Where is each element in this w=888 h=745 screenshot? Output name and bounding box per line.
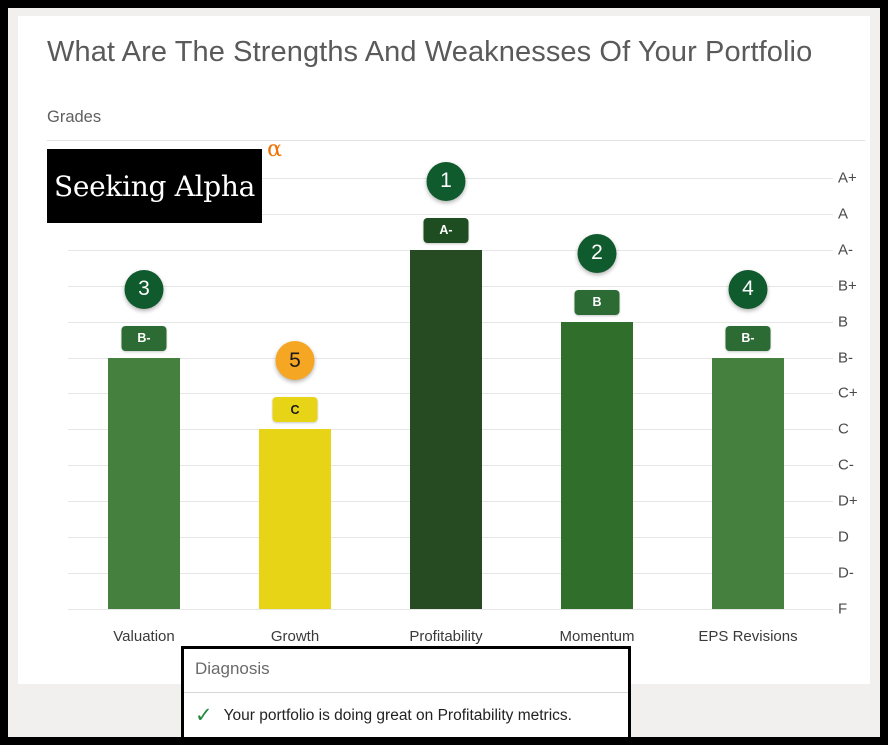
grade-badge-profitability: A-: [424, 218, 469, 243]
y-axis-tick-label: D: [838, 529, 849, 546]
bar-momentum[interactable]: [561, 322, 633, 609]
grade-badge-valuation: B-: [122, 326, 167, 351]
y-axis-tick-label: B: [838, 313, 848, 330]
seeking-alpha-logo: Seeking Alpha α: [47, 149, 262, 223]
diagnosis-title: Diagnosis: [195, 659, 270, 679]
rank-circle-2: 2: [578, 234, 617, 273]
bar-valuation[interactable]: [108, 358, 180, 609]
alpha-glyph-icon: α: [267, 137, 282, 162]
rank-circle-3: 3: [125, 270, 164, 309]
y-axis-tick-label: B+: [838, 277, 857, 294]
x-axis-label-growth: Growth: [271, 628, 319, 645]
diagnosis-message: Your portfolio is doing great on Profita…: [224, 707, 572, 725]
grade-badge-eps-revisions: B-: [726, 326, 771, 351]
y-axis-tick-label: D-: [838, 564, 854, 581]
grade-badge-momentum: B: [575, 290, 620, 315]
bar-growth[interactable]: [259, 429, 331, 609]
rank-circle-5: 5: [276, 341, 315, 380]
x-axis-label-momentum: Momentum: [559, 628, 634, 645]
diagnosis-message-row: ✓ Your portfolio is doing great on Profi…: [195, 705, 572, 726]
check-icon: ✓: [195, 705, 213, 726]
y-axis-tick-label: F: [838, 600, 847, 617]
x-axis-label-eps-revisions: EPS Revisions: [698, 628, 797, 645]
y-axis-tick-label: A+: [838, 170, 857, 187]
diagnosis-panel: Diagnosis ✓ Your portfolio is doing grea…: [181, 646, 631, 737]
x-axis-label-profitability: Profitability: [409, 628, 482, 645]
bar-eps-revisions[interactable]: [712, 358, 784, 609]
x-axis-label-valuation: Valuation: [113, 628, 174, 645]
diagnosis-divider: [184, 692, 628, 693]
gridline: [68, 609, 833, 610]
y-axis-tick-label: A: [838, 205, 848, 222]
y-axis-tick-label: A-: [838, 241, 853, 258]
screenshot-frame: What Are The Strengths And Weaknesses Of…: [0, 0, 888, 745]
y-axis-tick-label: C: [838, 421, 849, 438]
y-axis-tick-label: C+: [838, 385, 858, 402]
rank-circle-1: 1: [427, 162, 466, 201]
y-axis-tick-label: C-: [838, 457, 854, 474]
portfolio-grades-card: What Are The Strengths And Weaknesses Of…: [18, 16, 870, 684]
y-axis-tick-label: D+: [838, 493, 858, 510]
seeking-alpha-logo-text: Seeking Alpha: [54, 170, 255, 203]
y-axis-tick-label: B-: [838, 349, 853, 366]
rank-circle-4: 4: [729, 270, 768, 309]
page-background: What Are The Strengths And Weaknesses Of…: [8, 8, 880, 737]
grade-badge-growth: C: [273, 397, 318, 422]
bar-profitability[interactable]: [410, 250, 482, 609]
grades-bar-chart: A+AA-B+BB-C+CC-D+DD-FB-3ValuationC5Growt…: [18, 16, 870, 684]
